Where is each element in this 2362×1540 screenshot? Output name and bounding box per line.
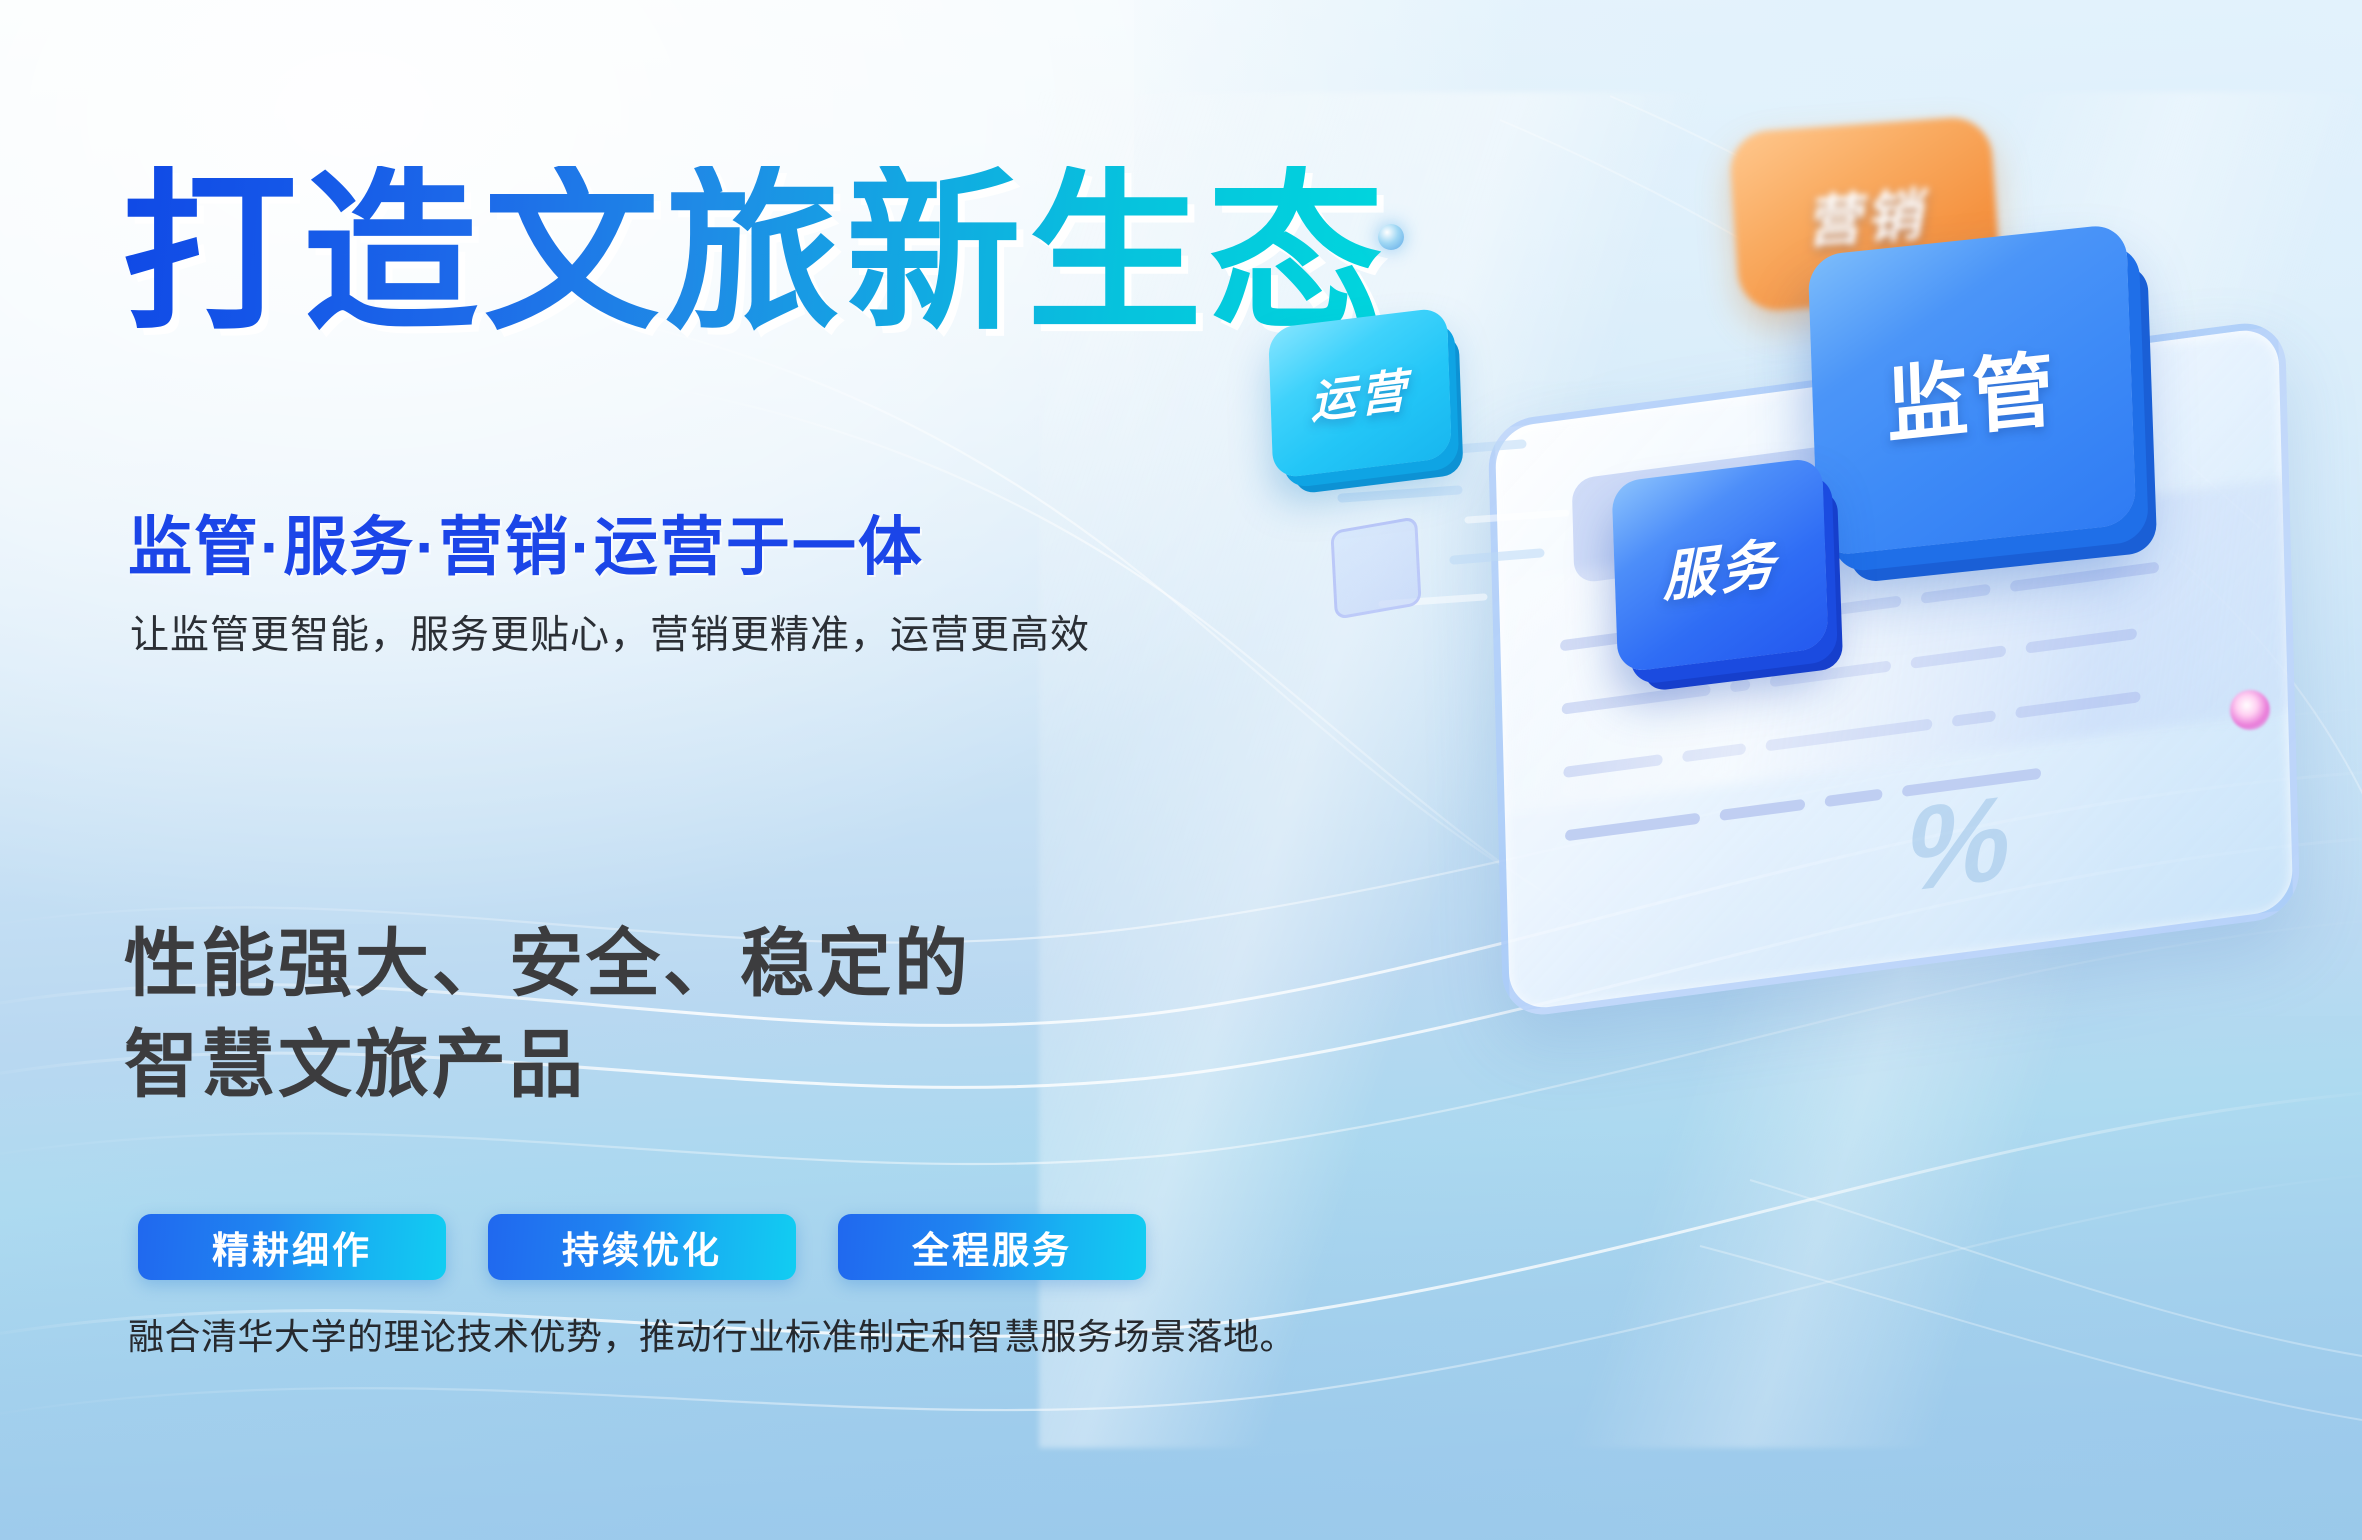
keycap-supervision-label: 监管 — [1884, 321, 2059, 458]
pill-full-process-service[interactable]: 全程服务 — [838, 1214, 1146, 1280]
pill-intensive-cultivation[interactable]: 精耕细作 — [138, 1214, 446, 1280]
pill-label: 持续优化 — [562, 1220, 722, 1274]
hero-title: 打造文旅新生态 — [122, 166, 1389, 341]
hero-illustration: % 营销 运营 监管 服务 — [1222, 0, 2362, 1540]
footer-note: 融合清华大学的理论技术优势，推动行业标准制定和智慧服务场景落地。 — [128, 1308, 1296, 1360]
pill-label: 精耕细作 — [212, 1220, 372, 1274]
feature-pill-row: 精耕细作 持续优化 全程服务 — [138, 1214, 1146, 1280]
feature-heading: 性能强大、安全、稳定的 智慧文旅产品 — [124, 914, 971, 1115]
keycap-supervision: 监管 — [1808, 223, 2137, 557]
hero-subtitle-description: 让监管更智能，服务更贴心，营销更精准，运营更高效 — [130, 612, 1090, 661]
hero-content: 打造文旅新生态 监管·服务·营销·运营于一体 让监管更智能，服务更贴心，营销更精… — [0, 0, 1260, 1540]
keycap-service-label: 服务 — [1661, 518, 1779, 611]
mini-cube-decoration — [1330, 516, 1421, 620]
keycap-service: 服务 — [1611, 457, 1828, 673]
keycap-operations-label: 运营 — [1309, 354, 1411, 432]
blue-glow-dot — [1378, 224, 1404, 250]
pink-glow-dot — [2230, 690, 2270, 730]
pill-label: 全程服务 — [912, 1220, 1072, 1274]
keycap-operations: 运营 — [1268, 307, 1452, 479]
hero-subtitle: 监管·服务·营销·运营于一体 — [128, 512, 924, 584]
pill-continuous-optimization[interactable]: 持续优化 — [488, 1214, 796, 1280]
